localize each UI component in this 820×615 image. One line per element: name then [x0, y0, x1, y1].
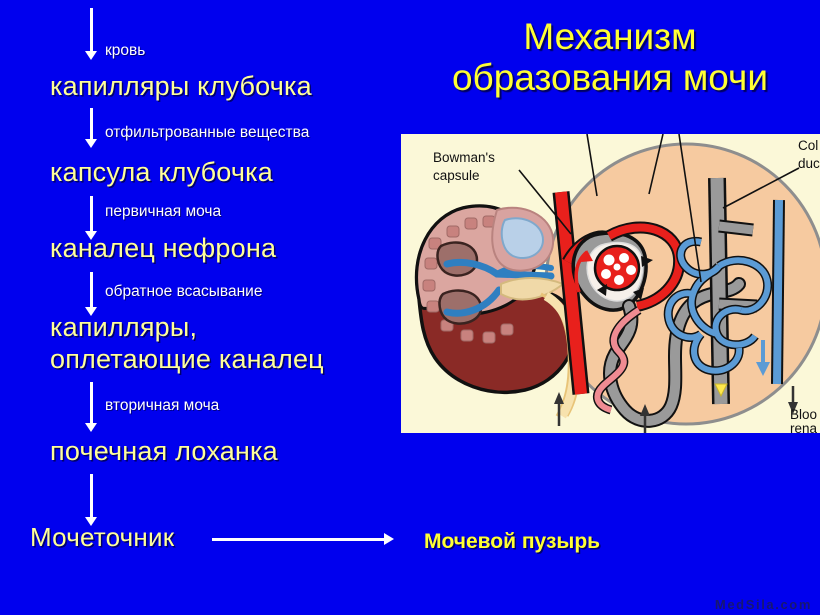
flow-final-from: Мочеточник — [30, 524, 174, 551]
collecting-branch-1 — [719, 226, 753, 230]
label-bowmans-line-1: Bowman's — [433, 150, 495, 165]
flow-connector-label-4: обратное всасывание — [105, 283, 262, 301]
arrow-blood-in-head — [554, 392, 564, 404]
flow-connector-label-5: вторичная моча — [105, 397, 219, 415]
watermark: MedSila.com — [715, 597, 812, 612]
nephron-diagram-svg: Bowman's capsule Col duc Bloo rena — [401, 134, 820, 433]
page-title-line-2: образования мочи — [400, 57, 820, 98]
label-collecting-duct-line-1: Col — [798, 138, 818, 153]
label-blood-renal-line-1: Bloo — [790, 407, 817, 422]
page-title-line-1: Механизм — [400, 16, 820, 57]
flow-arrow-4 — [85, 272, 98, 316]
flow-connector-label-3: первичная моча — [105, 203, 221, 221]
flow-step-3: каналец нефрона — [50, 234, 276, 262]
flow-arrow-6 — [85, 474, 98, 526]
label-bowmans-line-2: capsule — [433, 168, 480, 183]
flow-step-5: почечная лоханка — [50, 437, 278, 465]
nephron-diagram-panel: Bowman's capsule Col duc Bloo rena — [401, 134, 820, 433]
flow-arrow-1 — [85, 8, 98, 60]
flow-connector-label-1: кровь — [105, 42, 145, 60]
glomerulus — [595, 246, 639, 290]
slide-root: Механизм образования мочи кровь капилляр… — [0, 0, 820, 615]
flow-step-4-line-2: оплетающие каналец — [50, 345, 324, 373]
flow-final-to: Мочевой пузырь — [424, 530, 600, 554]
label-collecting-duct-line-2: duc — [798, 156, 820, 171]
flow-step-1: капилляры клубочка — [50, 72, 312, 100]
flow-step-4-line-1: капилляры, — [50, 313, 197, 341]
flow-arrow-horizontal — [212, 533, 394, 546]
page-title: Механизм образования мочи — [400, 16, 820, 99]
flow-arrow-5 — [85, 382, 98, 432]
label-blood-renal-line-2: rena — [790, 421, 818, 433]
flow-step-2: капсула клубочка — [50, 158, 273, 186]
renal-vein-trunk — [777, 200, 779, 384]
flow-arrow-2 — [85, 108, 98, 148]
flow-connector-label-2: отфильтрованные вещества — [105, 124, 309, 142]
